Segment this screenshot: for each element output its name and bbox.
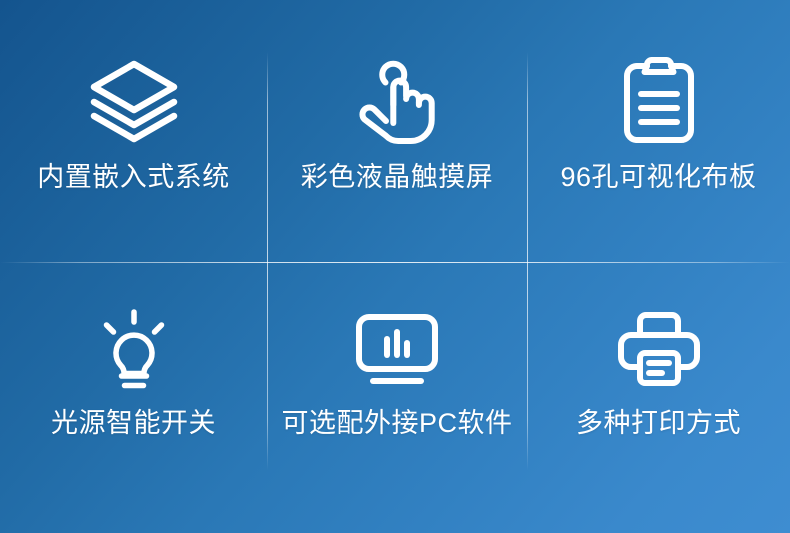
feature-cell-multiple-print-methods[interactable]: 多种打印方式 bbox=[527, 262, 790, 533]
feature-cell-optional-pc-software[interactable]: 可选配外接PC软件 bbox=[267, 262, 527, 533]
feature-label: 光源智能开关 bbox=[51, 410, 216, 437]
feature-grid: 内置嵌入式系统 彩色液晶触摸屏 bbox=[0, 0, 790, 533]
feature-cell-color-lcd-touchscreen[interactable]: 彩色液晶触摸屏 bbox=[267, 0, 527, 262]
feature-cell-96-well-visual-plate[interactable]: 96孔可视化布板 bbox=[527, 0, 790, 262]
feature-label: 96孔可视化布板 bbox=[560, 164, 756, 191]
touch-hand-icon bbox=[355, 58, 439, 144]
clipboard-icon bbox=[621, 58, 697, 144]
layers-stack-icon bbox=[88, 58, 180, 144]
lightbulb-icon bbox=[93, 310, 175, 388]
printer-icon bbox=[617, 310, 701, 388]
feature-cell-light-source-smart-switch[interactable]: 光源智能开关 bbox=[0, 262, 267, 533]
feature-label: 多种打印方式 bbox=[576, 410, 741, 437]
feature-label: 内置嵌入式系统 bbox=[37, 164, 230, 191]
feature-label: 彩色液晶触摸屏 bbox=[301, 164, 494, 191]
feature-label: 可选配外接PC软件 bbox=[281, 410, 512, 437]
monitor-bar-chart-icon bbox=[354, 310, 440, 388]
feature-cell-embedded-system[interactable]: 内置嵌入式系统 bbox=[0, 0, 267, 262]
feature-panel: 内置嵌入式系统 彩色液晶触摸屏 bbox=[0, 0, 790, 533]
